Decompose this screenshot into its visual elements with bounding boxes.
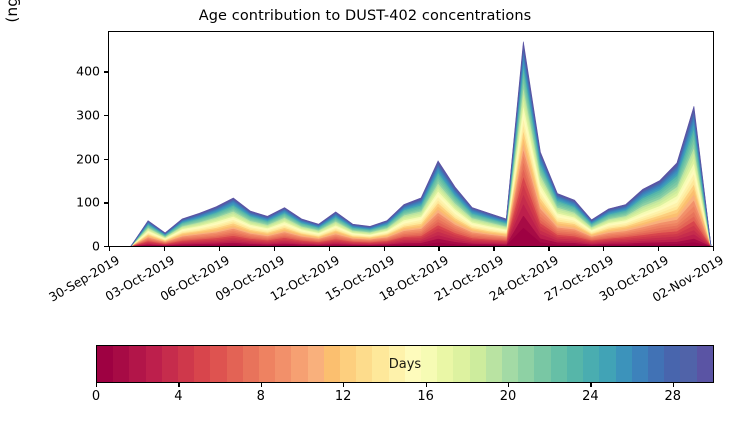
colorbar-tick-label: 20 xyxy=(500,389,517,404)
colorbar-tick-label: 8 xyxy=(257,389,265,404)
x-tick-label: 30-Sep-2019 xyxy=(28,253,122,315)
colorbar-band xyxy=(470,346,486,382)
colorbar-band xyxy=(372,346,388,382)
stacked-area-plot xyxy=(109,32,713,246)
colorbar-tick-label: 0 xyxy=(92,389,100,404)
colorbar-band xyxy=(437,346,453,382)
colorbar-band xyxy=(210,346,226,382)
y-tick-label: 200 xyxy=(60,151,100,166)
colorbar-tick-mark xyxy=(96,383,97,387)
colorbar-tick-mark xyxy=(508,383,509,387)
colorbar-band xyxy=(486,346,502,382)
colorbar-band xyxy=(583,346,599,382)
colorbar-band xyxy=(243,346,259,382)
colorbar-band xyxy=(616,346,632,382)
y-tick-label: 100 xyxy=(60,195,100,210)
colorbar-band xyxy=(146,346,162,382)
colorbar-band xyxy=(340,346,356,382)
colorbar-band xyxy=(97,346,113,382)
plot-area[interactable] xyxy=(108,31,714,247)
colorbar-band xyxy=(551,346,567,382)
colorbar-tick-mark xyxy=(343,383,344,387)
colorbar-band xyxy=(389,346,405,382)
y-tick-label: 300 xyxy=(60,107,100,122)
colorbar-band xyxy=(291,346,307,382)
chart-title: Age contribution to DUST-402 concentrati… xyxy=(0,8,730,24)
colorbar-band xyxy=(453,346,469,382)
colorbar-bands xyxy=(97,346,713,382)
colorbar-band xyxy=(324,346,340,382)
colorbar-band xyxy=(356,346,372,382)
colorbar-band xyxy=(534,346,550,382)
colorbar-band xyxy=(259,346,275,382)
y-tick-label: 400 xyxy=(60,64,100,79)
colorbar-tick-mark xyxy=(178,383,179,387)
colorbar-band xyxy=(664,346,680,382)
colorbar-tick-label: 28 xyxy=(665,389,682,404)
colorbar-band xyxy=(162,346,178,382)
colorbar-tick-label: 12 xyxy=(335,389,352,404)
figure-canvas: Age contribution to DUST-402 concentrati… xyxy=(0,0,730,425)
colorbar-band xyxy=(599,346,615,382)
colorbar-band xyxy=(129,346,145,382)
colorbar-tick-mark xyxy=(426,383,427,387)
colorbar-band xyxy=(697,346,713,382)
colorbar-band xyxy=(308,346,324,382)
colorbar-band xyxy=(421,346,437,382)
colorbar-tick-label: 4 xyxy=(174,389,182,404)
colorbar[interactable]: Days xyxy=(96,345,714,383)
colorbar-tick-label: 16 xyxy=(417,389,434,404)
colorbar-tick-mark xyxy=(673,383,674,387)
colorbar-band xyxy=(502,346,518,382)
colorbar-band xyxy=(680,346,696,382)
colorbar-tick-label: 24 xyxy=(582,389,599,404)
colorbar-band xyxy=(275,346,291,382)
colorbar-band xyxy=(178,346,194,382)
colorbar-tick-mark xyxy=(261,383,262,387)
colorbar-band xyxy=(227,346,243,382)
colorbar-band xyxy=(648,346,664,382)
colorbar-band xyxy=(405,346,421,382)
colorbar-band xyxy=(113,346,129,382)
colorbar-tick-mark xyxy=(590,383,591,387)
colorbar-band xyxy=(567,346,583,382)
y-tick-label: 0 xyxy=(60,239,100,254)
colorbar-band xyxy=(632,346,648,382)
colorbar-band xyxy=(194,346,210,382)
colorbar-band xyxy=(518,346,534,382)
